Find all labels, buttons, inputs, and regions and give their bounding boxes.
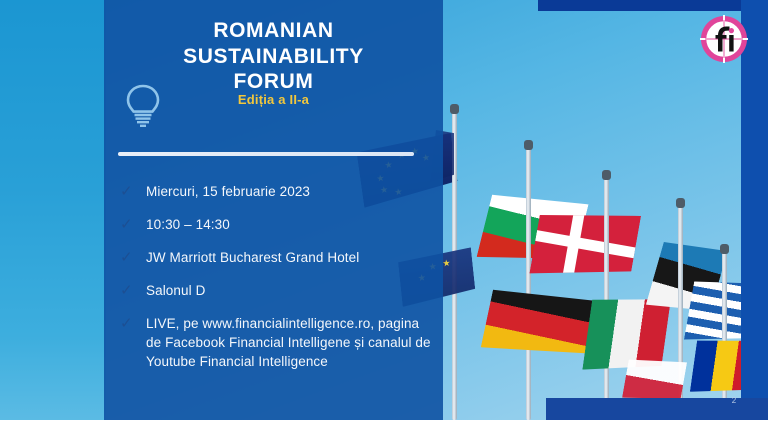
flagpole [526, 148, 531, 420]
lightbulb-icon [120, 80, 166, 130]
top-accent-bar [538, 0, 768, 11]
list-item-label: JW Marriott Bucharest Grand Hotel [146, 248, 359, 267]
content-panel: ROMANIANSUSTAINABILITYFORUM Ediția a II-… [104, 0, 443, 420]
list-item-label: Miercuri, 15 februarie 2023 [146, 182, 310, 201]
sky-gradient-left [0, 0, 106, 420]
page-number: 2 [727, 394, 741, 408]
check-icon: ✓ [114, 281, 146, 300]
check-icon: ✓ [114, 248, 146, 267]
check-icon: ✓ [114, 182, 146, 201]
event-details-list: ✓ Miercuri, 15 februarie 2023 ✓ 10:30 – … [114, 182, 434, 385]
financial-intelligence-logo [699, 14, 749, 64]
bottom-white-band [0, 420, 768, 432]
title-divider [118, 152, 414, 156]
presentation-slide: ★ ★ ★ ★ ★ ★ ★ ★ ★ ★ [0, 0, 768, 432]
list-item: ✓ Salonul D [114, 281, 434, 300]
check-icon: ✓ [114, 314, 146, 333]
right-accent-bar [741, 0, 768, 432]
list-item: ✓ LIVE, pe www.financialintelligence.ro,… [114, 314, 434, 371]
list-item-label: Salonul D [146, 281, 205, 300]
list-item: ✓ JW Marriott Bucharest Grand Hotel [114, 248, 434, 267]
list-item-label: 10:30 – 14:30 [146, 215, 230, 234]
check-icon: ✓ [114, 215, 146, 234]
list-item: ✓ 10:30 – 14:30 [114, 215, 434, 234]
flagpole [604, 178, 609, 420]
list-item: ✓ Miercuri, 15 februarie 2023 [114, 182, 434, 201]
list-item-label: LIVE, pe www.financialintelligence.ro, p… [146, 314, 434, 371]
